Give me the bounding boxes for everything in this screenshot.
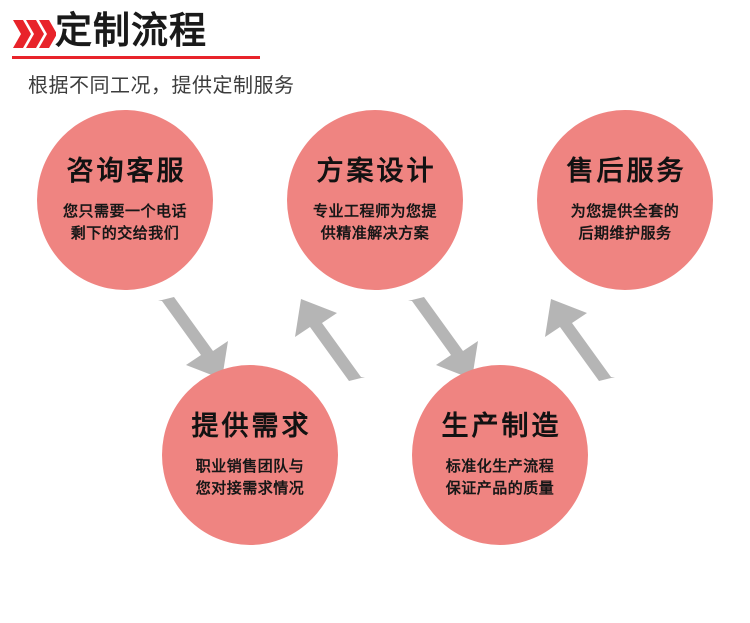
flow-node-desc-line: 您对接需求情况 <box>196 477 305 499</box>
flow-node-desc-line: 专业工程师为您提 <box>313 200 437 222</box>
flow-node-desc-line: 为您提供全套的 <box>571 200 680 222</box>
flow-node-desc-line: 保证产品的质量 <box>446 477 555 499</box>
arrow-up-right-icon <box>533 295 623 383</box>
flow-node-after-sales-service[interactable]: 售后服务 为您提供全套的 后期维护服务 <box>537 110 713 290</box>
flow-node-title: 方案设计 <box>314 156 437 188</box>
flow-node-solution-design[interactable]: 方案设计 专业工程师为您提 供精准解决方案 <box>287 110 463 290</box>
flow-node-desc-line: 标准化生产流程 <box>446 455 555 477</box>
flow-node-provide-requirements[interactable]: 提供需求 职业销售团队与 您对接需求情况 <box>162 365 338 545</box>
flow-node-desc-line: 供精准解决方案 <box>313 222 437 244</box>
flow-node-consult-service[interactable]: 咨询客服 您只需要一个电话 剩下的交给我们 <box>37 110 213 290</box>
custom-process-flow-diagram: 咨询客服 您只需要一个电话 剩下的交给我们 方案设计 专业工程师为您提 供精准解… <box>0 0 750 623</box>
flow-node-production-manufacturing[interactable]: 生产制造 标准化生产流程 保证产品的质量 <box>412 365 588 545</box>
flow-node-desc-line: 您只需要一个电话 <box>63 200 187 222</box>
arrow-up-right-icon <box>283 295 373 383</box>
flow-node-desc-line: 职业销售团队与 <box>196 455 305 477</box>
flow-node-title: 售后服务 <box>564 156 687 188</box>
flow-node-desc-line: 后期维护服务 <box>571 222 680 244</box>
flow-node-title: 提供需求 <box>189 411 312 443</box>
flow-node-title: 咨询客服 <box>64 156 187 188</box>
flow-node-desc-line: 剩下的交给我们 <box>63 222 187 244</box>
flow-node-title: 生产制造 <box>439 411 562 443</box>
